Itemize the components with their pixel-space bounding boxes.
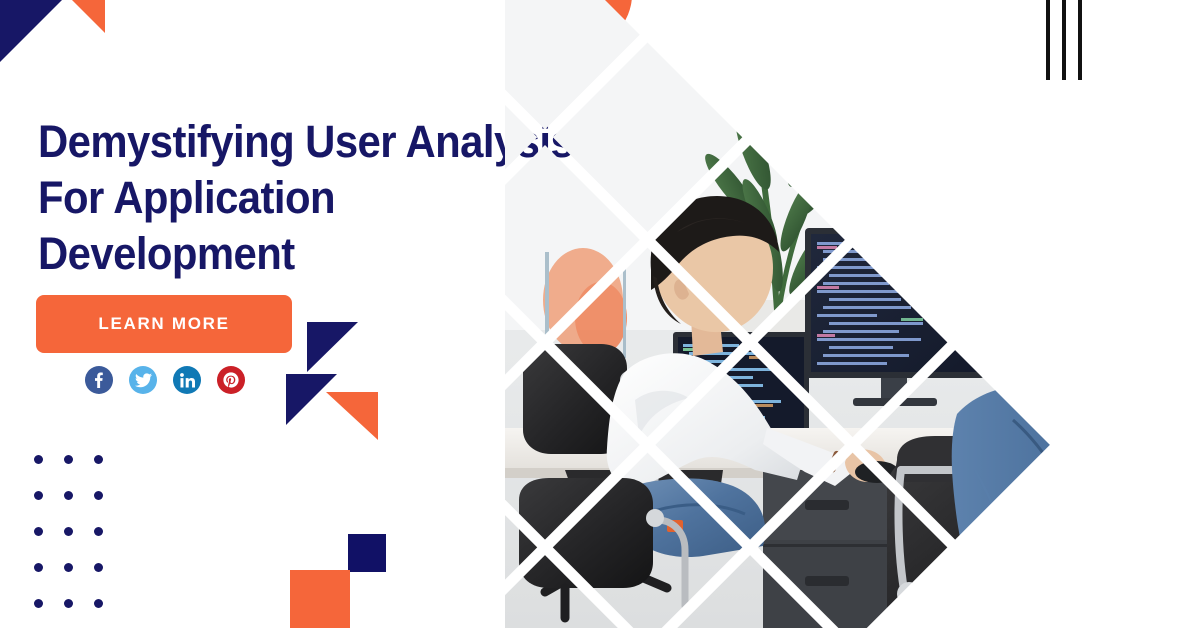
grid-dot xyxy=(34,563,43,572)
social-links xyxy=(85,366,245,394)
grid-dot xyxy=(34,455,43,464)
promo-banner: Demystifying User Analysis For Applicati… xyxy=(0,0,1200,628)
grid-dot xyxy=(94,455,103,464)
dot-grid-decoration xyxy=(34,455,124,628)
grid-dot xyxy=(34,527,43,536)
developers-photo xyxy=(505,0,1200,628)
grid-dot xyxy=(64,599,73,608)
facebook-icon[interactable] xyxy=(85,366,113,394)
navy-triangle-left xyxy=(286,374,337,425)
grid-dot xyxy=(94,563,103,572)
orange-square-decoration xyxy=(290,570,350,628)
grid-dot xyxy=(34,599,43,608)
grid-dot xyxy=(94,491,103,500)
grid-dot xyxy=(64,527,73,536)
corner-orange-triangle xyxy=(72,0,105,33)
grid-dot xyxy=(64,491,73,500)
grid-dot xyxy=(64,563,73,572)
grid-dot xyxy=(94,599,103,608)
grid-dot xyxy=(94,527,103,536)
navy-triangle-top xyxy=(307,322,358,372)
orange-triangle-bottom xyxy=(326,392,378,440)
navy-square-decoration xyxy=(348,534,386,572)
twitter-icon[interactable] xyxy=(129,366,157,394)
corner-navy-triangle xyxy=(0,0,62,62)
corner-triangle-decoration xyxy=(0,0,105,70)
grid-dot xyxy=(34,491,43,500)
corner-orange-triangle-a xyxy=(75,0,105,28)
pinterest-icon[interactable] xyxy=(217,366,245,394)
triangle-cluster-decoration xyxy=(286,322,378,440)
linkedin-icon[interactable] xyxy=(173,366,201,394)
grid-dot xyxy=(64,455,73,464)
learn-more-button[interactable]: LEARN MORE xyxy=(36,295,292,353)
photo-collage xyxy=(505,0,1200,628)
